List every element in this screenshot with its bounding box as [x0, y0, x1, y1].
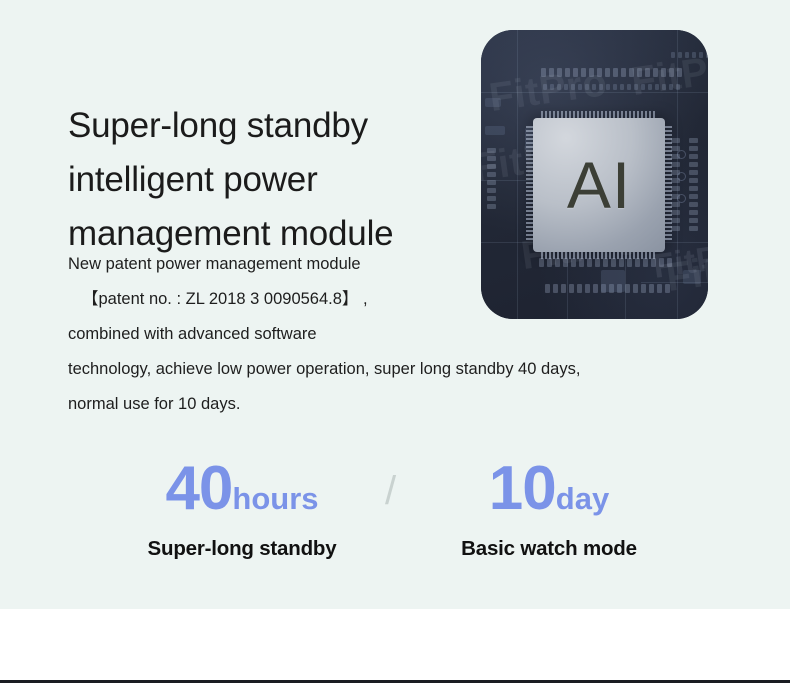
description-line: technology, achieve low power operation,…	[68, 352, 728, 387]
stat-unit: day	[556, 481, 609, 516]
solder-pad-row-icon	[671, 52, 708, 58]
stat-value: 10day	[415, 458, 683, 520]
page-title: Super-long standby intelligent power man…	[68, 99, 468, 261]
chip-pins-right-icon	[665, 126, 672, 240]
chip-component-icon	[683, 270, 701, 284]
stat-separator: /	[385, 471, 396, 511]
statistics-row: 40hours Super-long standby / 10day Basic…	[0, 458, 790, 578]
stat-standby: 40hours Super-long standby	[108, 458, 376, 561]
chip-component-icon	[485, 98, 501, 107]
ai-label: AI	[567, 152, 631, 218]
solder-pad-column-icon	[487, 148, 496, 209]
stat-label: Basic watch mode	[415, 537, 683, 561]
chip-component-icon	[601, 270, 625, 292]
chip-pins-bottom-icon	[541, 252, 655, 259]
stat-number: 10	[489, 454, 556, 523]
stat-label: Super-long standby	[108, 537, 376, 561]
ai-chip-image: FitPro FitPro FitPro FitPro FitPro FitPr…	[481, 30, 708, 319]
via-hole-icon	[677, 172, 686, 181]
solder-pad-row-icon	[539, 258, 672, 267]
description-line: combined with advanced software	[68, 317, 728, 352]
solder-pad-row-icon	[543, 84, 680, 90]
stat-number: 40	[165, 454, 232, 523]
circuit-trace-icon	[517, 30, 518, 319]
solder-pad-column-icon	[689, 138, 698, 231]
circuit-trace-icon	[481, 92, 708, 93]
chip-pins-left-icon	[526, 126, 533, 240]
solder-pad-row-icon	[541, 68, 682, 77]
via-hole-icon	[677, 150, 686, 159]
stat-value: 40hours	[108, 458, 376, 520]
via-hole-icon	[677, 194, 686, 203]
bottom-divider	[0, 680, 790, 683]
marketing-panel: Super-long standby intelligent power man…	[0, 0, 790, 686]
stat-unit: hours	[232, 481, 318, 516]
chip-pins-top-icon	[541, 111, 655, 118]
ai-chip-die: FitPro AI	[533, 118, 665, 252]
chip-component-icon	[485, 126, 505, 135]
description-line: normal use for 10 days.	[68, 387, 728, 422]
stat-watch-mode: 10day Basic watch mode	[415, 458, 683, 561]
